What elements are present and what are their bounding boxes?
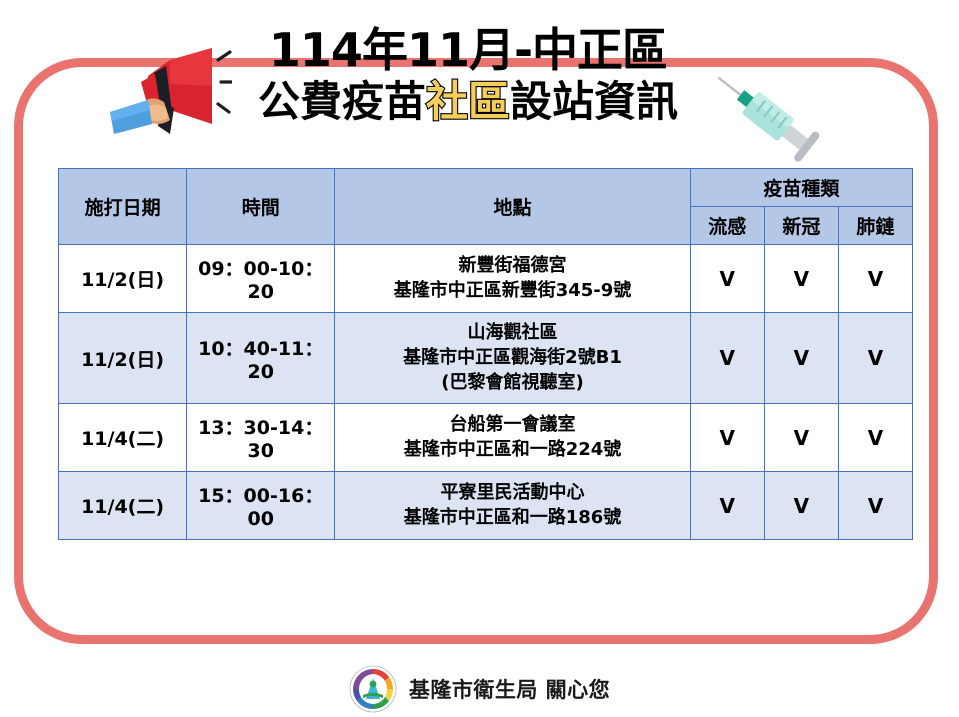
header-date: 施打日期: [59, 169, 187, 245]
header-pneumo: 肺鏈: [838, 207, 912, 245]
subtitle-part1: 公費疫苗: [258, 77, 426, 126]
place-line: 基隆市中正區新豐街345-9號: [341, 279, 683, 304]
cell-date: 11/4(二): [59, 472, 187, 540]
cell-time: 10：40-11：20: [187, 313, 335, 404]
schedule-table-body: 11/2(日)09：00-10：20新豐街福德宮基隆市中正區新豐街345-9號V…: [59, 245, 913, 540]
cell-pneumo: V: [838, 404, 912, 472]
place-line: (巴黎會館視聽室): [341, 371, 683, 396]
place-line: 平寮里民活動中心: [341, 481, 683, 506]
cell-date: 11/4(二): [59, 404, 187, 472]
table-header-row-1: 施打日期 時間 地點 疫苗種類: [59, 169, 913, 207]
cell-flu: V: [690, 472, 764, 540]
page-title: 114年11月-中正區: [228, 26, 708, 76]
subtitle-part2: 設站資訊: [510, 77, 678, 126]
place-line: 台船第一會議室: [341, 413, 683, 438]
table-row: 11/4(二)13：30-14：30台船第一會議室基隆市中正區和一路224號VV…: [59, 404, 913, 472]
header-time: 時間: [187, 169, 335, 245]
cell-time: 09：00-10：20: [187, 245, 335, 313]
cell-covid: V: [764, 404, 838, 472]
cell-date: 11/2(日): [59, 313, 187, 404]
cell-place: 新豐街福德宮基隆市中正區新豐街345-9號: [335, 245, 690, 313]
poster-header: 114年11月-中正區 公費疫苗社區設站資訊: [0, 0, 959, 160]
footer: 基隆市衛生局 關心您: [0, 660, 959, 717]
syringe-icon: [700, 62, 830, 166]
page-subtitle: 公費疫苗社區設站資訊: [228, 78, 708, 125]
cell-covid: V: [764, 472, 838, 540]
keelung-health-bureau-logo-icon: [349, 665, 397, 713]
title-block: 114年11月-中正區 公費疫苗社區設站資訊: [228, 26, 708, 125]
cell-place: 山海觀社區基隆市中正區觀海街2號B1(巴黎會館視聽室): [335, 313, 690, 404]
cell-covid: V: [764, 245, 838, 313]
cell-time: 13：30-14：30: [187, 404, 335, 472]
cell-pneumo: V: [838, 472, 912, 540]
subtitle-highlight: 社區: [426, 77, 510, 126]
cell-time: 15：00-16：00: [187, 472, 335, 540]
cell-covid: V: [764, 313, 838, 404]
megaphone-icon: [108, 38, 232, 154]
place-line: 基隆市中正區和一路224號: [341, 438, 683, 463]
table-row: 11/2(日)10：40-11：20山海觀社區基隆市中正區觀海街2號B1(巴黎會…: [59, 313, 913, 404]
cell-flu: V: [690, 404, 764, 472]
cell-pneumo: V: [838, 245, 912, 313]
cell-flu: V: [690, 313, 764, 404]
place-line: 新豐街福德宮: [341, 254, 683, 279]
header-vaccine-group: 疫苗種類: [690, 169, 912, 207]
header-covid: 新冠: [764, 207, 838, 245]
table-row: 11/2(日)09：00-10：20新豐街福德宮基隆市中正區新豐街345-9號V…: [59, 245, 913, 313]
header-place: 地點: [335, 169, 690, 245]
cell-flu: V: [690, 245, 764, 313]
place-line: 基隆市中正區和一路186號: [341, 506, 683, 531]
header-flu: 流感: [690, 207, 764, 245]
vaccination-schedule-table: 施打日期 時間 地點 疫苗種類 流感 新冠 肺鏈 11/2(日)09：00-10…: [58, 168, 913, 540]
cell-pneumo: V: [838, 313, 912, 404]
cell-place: 平寮里民活動中心基隆市中正區和一路186號: [335, 472, 690, 540]
footer-text: 基隆市衛生局 關心您: [409, 674, 610, 704]
cell-date: 11/2(日): [59, 245, 187, 313]
table-row: 11/4(二)15：00-16：00平寮里民活動中心基隆市中正區和一路186號V…: [59, 472, 913, 540]
place-line: 山海觀社區: [341, 321, 683, 346]
cell-place: 台船第一會議室基隆市中正區和一路224號: [335, 404, 690, 472]
place-line: 基隆市中正區觀海街2號B1: [341, 346, 683, 371]
